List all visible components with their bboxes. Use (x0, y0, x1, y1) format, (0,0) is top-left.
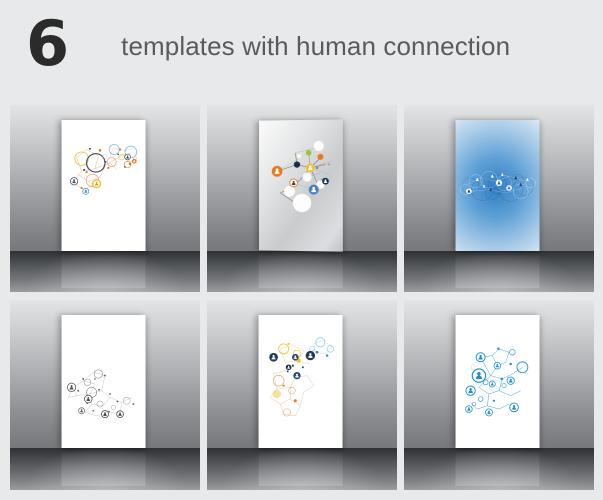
page-reflection (259, 448, 343, 486)
template-tile-1[interactable] (10, 105, 200, 292)
template-tile-5[interactable] (207, 300, 397, 490)
template-tile-3[interactable] (404, 105, 594, 292)
network-graphic-5 (259, 315, 343, 448)
network-graphic-2 (259, 119, 342, 251)
page-reflection (456, 251, 540, 288)
page-reflection (259, 251, 343, 288)
person-node-group (466, 353, 519, 416)
person-node (272, 166, 283, 177)
template-grid (10, 105, 595, 490)
template-count: 6 (26, 13, 67, 75)
template-page-3[interactable] (456, 120, 540, 251)
page-header: 6 templates with human connection (0, 0, 603, 92)
template-tile-6[interactable] (404, 300, 594, 490)
template-tile-2[interactable] (207, 105, 397, 292)
person-node (322, 178, 329, 185)
network-graphic-3 (456, 120, 540, 251)
template-page-4[interactable] (62, 315, 146, 448)
page-reflection (62, 251, 146, 288)
template-page-5[interactable] (259, 315, 343, 448)
person-node (290, 179, 298, 187)
template-page-1[interactable] (62, 120, 146, 251)
network-graphic-6 (456, 315, 540, 448)
page-title: templates with human connection (121, 31, 510, 62)
template-page-2[interactable] (259, 119, 342, 251)
page-reflection (62, 448, 146, 486)
person-node (306, 163, 315, 172)
network-graphic-4 (62, 315, 146, 448)
template-page-6[interactable] (456, 315, 540, 448)
page-reflection (456, 448, 540, 486)
person-node (309, 185, 319, 195)
network-graphic-1 (62, 120, 146, 251)
template-tile-4[interactable] (10, 300, 200, 490)
person-node-group (70, 154, 136, 194)
